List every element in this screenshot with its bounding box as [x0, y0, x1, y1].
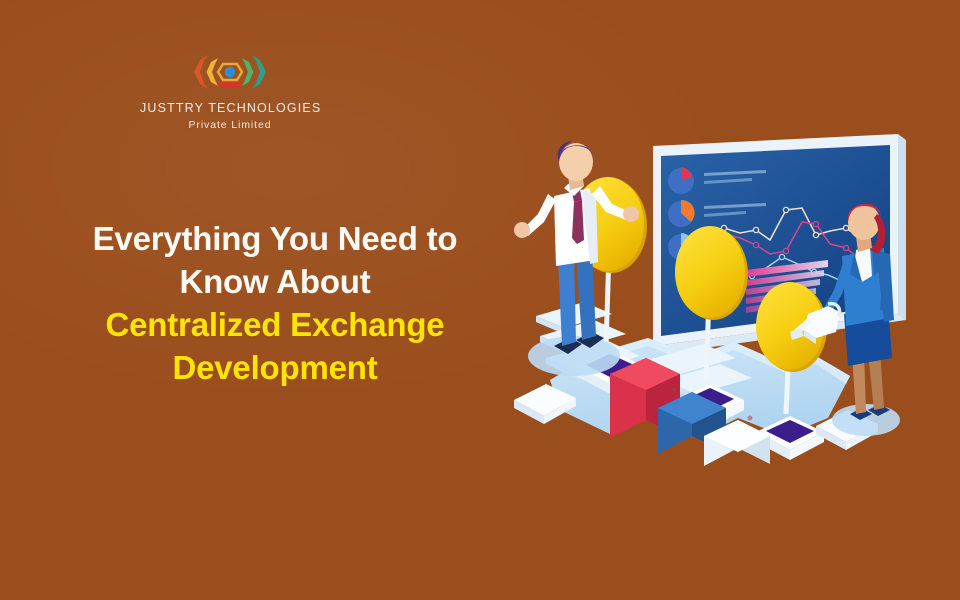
hero-illustration [498, 118, 950, 490]
headline-line-4: Development [60, 347, 490, 390]
headline: Everything You Need to Know About Centra… [60, 218, 490, 390]
brand-logo[interactable]: JUSTTRY TECHNOLOGIES Private Limited [140, 48, 320, 131]
justtry-hexagon-bracket-logo [188, 48, 272, 96]
isometric-crypto-growth-scene [498, 118, 950, 490]
logo-company-name: JUSTTRY TECHNOLOGIES [140, 102, 320, 116]
headline-line-3: Centralized Exchange [60, 304, 490, 347]
promo-banner: JUSTTRY TECHNOLOGIES Private Limited Eve… [0, 0, 960, 600]
headline-line-1: Everything You Need to [60, 218, 490, 261]
logo-company-suffix: Private Limited [140, 119, 320, 131]
headline-line-2: Know About [60, 261, 490, 304]
